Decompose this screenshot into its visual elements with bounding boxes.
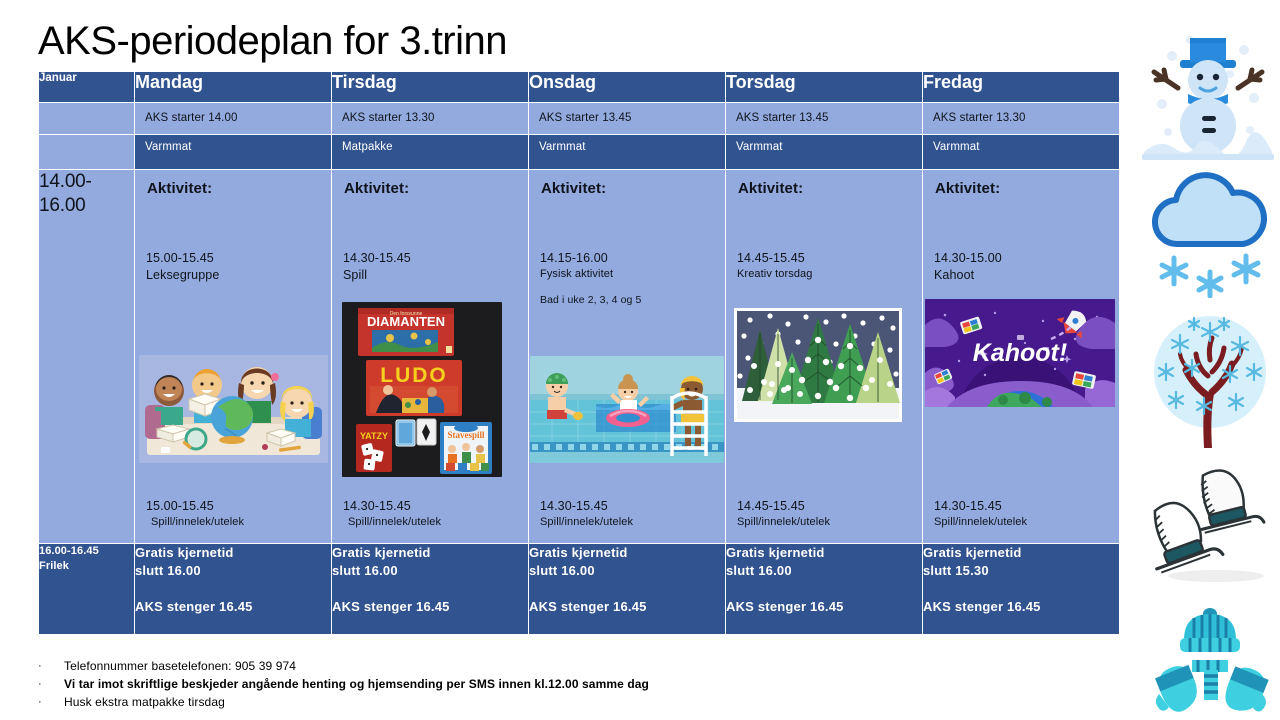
activity-time-label: 14.00-16.00	[39, 170, 135, 544]
food-row-time-cell	[39, 135, 135, 170]
closing-line1-onsdag: Gratis kjernetid	[529, 544, 725, 562]
activity-cell-torsdag: Aktivitet: 14.45-15.45 Kreativ torsdag	[726, 170, 923, 544]
closing-line2-mandag: slutt 16.00	[135, 562, 331, 580]
closing-cell-tirsdag: Gratis kjernetid slutt 16.00 AKS stenger…	[332, 544, 529, 635]
activity-name-mandag: Leksegruppe	[146, 267, 325, 284]
closing-line3-fredag: AKS stenger 16.45	[923, 599, 1119, 614]
start-text-onsdag: AKS starter 13.45	[529, 103, 725, 124]
bullet-marker: ·	[34, 658, 64, 674]
activity-foot-time-torsdag: 14.45-15.45	[737, 498, 916, 514]
food-cell-mandag: Varmmat	[135, 135, 332, 170]
ice-skates-icon	[1140, 458, 1280, 593]
activity-cell-mandag: Aktivitet: 15.00-15.45 Leksegruppe	[135, 170, 332, 544]
activity-foot-time-onsdag: 14.30-15.45	[540, 498, 719, 514]
activity-footer-tirsdag: 14.30-15.45 Spill/innelek/utelek	[343, 498, 522, 529]
closing-cell-torsdag: Gratis kjernetid slutt 16.00 AKS stenger…	[726, 544, 923, 635]
activity-row: 14.00-16.00 Aktivitet: 15.00-15.45 Lekse…	[39, 170, 1120, 544]
activity-cell-fredag: Aktivitet: 14.30-15.00 Kahoot	[923, 170, 1120, 544]
footer-bullet-2: · Vi tar imot skriftlige beskjeder angåe…	[34, 676, 934, 693]
food-row: Varmmat Matpakke Varmmat Varmmat Varmmat	[39, 135, 1120, 170]
snow-cloud-icon	[1142, 166, 1278, 303]
closing-line2-torsdag: slutt 16.00	[726, 562, 922, 580]
winter-tree-icon	[1146, 310, 1274, 455]
activity-cell-tirsdag: Aktivitet: 14.30-15.45 Spill Den forsvun…	[332, 170, 529, 544]
closing-time-label: 16.00-16.45 Frilek	[39, 544, 135, 635]
closing-line1-torsdag: Gratis kjernetid	[726, 544, 922, 562]
food-cell-fredag: Varmmat	[923, 135, 1120, 170]
closing-line1-mandag: Gratis kjernetid	[135, 544, 331, 562]
start-text-tirsdag: AKS starter 13.30	[332, 103, 528, 124]
closing-line3-mandag: AKS stenger 16.45	[135, 599, 331, 614]
start-cell-fredag: AKS starter 13.30	[923, 103, 1120, 135]
table-header-row: Januar Mandag Tirsdag Onsdag Torsdag Fre…	[39, 72, 1120, 103]
food-cell-onsdag: Varmmat	[529, 135, 726, 170]
snowman-icon	[1138, 22, 1278, 167]
food-text-mandag: Varmmat	[135, 135, 331, 153]
closing-line2-tirsdag: slutt 16.00	[332, 562, 528, 580]
closing-line1-tirsdag: Gratis kjernetid	[332, 544, 528, 562]
winter-icons-sidebar	[1130, 14, 1280, 714]
closing-row: 16.00-16.45 Frilek Gratis kjernetid slut…	[39, 544, 1120, 635]
start-cell-onsdag: AKS starter 13.45	[529, 103, 726, 135]
food-text-fredag: Varmmat	[923, 135, 1119, 153]
activity-time-tirsdag: 14.30-15.45	[343, 251, 522, 267]
header-day-onsdag: Onsdag	[529, 72, 726, 103]
svg-text:DIAMANTEN: DIAMANTEN	[367, 314, 445, 329]
weekly-plan-table: Januar Mandag Tirsdag Onsdag Torsdag Fre…	[38, 71, 1120, 635]
activity-foot-name-tirsdag: Spill/innelek/utelek	[343, 515, 522, 529]
activity-image-mandag	[139, 355, 331, 463]
activity-foot-name-torsdag: Spill/innelek/utelek	[737, 515, 916, 529]
closing-cell-onsdag: Gratis kjernetid slutt 16.00 AKS stenger…	[529, 544, 726, 635]
activity-name-fredag: Kahoot	[934, 267, 1113, 284]
closing-line3-onsdag: AKS stenger 16.45	[529, 599, 725, 614]
slide-root: AKS-periodeplan for 3.trinn Januar Manda…	[0, 0, 1280, 720]
bullet-marker: ·	[34, 676, 64, 692]
svg-text:Kahoot!: Kahoot!	[973, 339, 1067, 367]
winter-clothes-icon	[1146, 602, 1274, 720]
activity-footer-onsdag: 14.30-15.45 Spill/innelek/utelek	[540, 498, 719, 529]
closing-line1-fredag: Gratis kjernetid	[923, 544, 1119, 562]
food-text-onsdag: Varmmat	[529, 135, 725, 153]
activity-footer-mandag: 15.00-15.45 Spill/innelek/utelek	[146, 498, 325, 529]
activity-heading-mandag: Aktivitet:	[135, 170, 331, 197]
header-day-torsdag: Torsdag	[726, 72, 923, 103]
footer-bullet-2-text: Vi tar imot skriftlige beskjeder angåend…	[64, 676, 649, 692]
footer-bullet-3-text: Husk ekstra matpakke tirsdag	[64, 694, 225, 710]
activity-image-tirsdag: Den forsvunne DIAMANTEN LUDO	[342, 302, 528, 477]
activity-name-tirsdag: Spill	[343, 267, 522, 284]
swimming-pool-photo	[530, 356, 724, 463]
activity-time-torsdag: 14.45-15.45	[737, 251, 916, 267]
activity-name-torsdag: Kreativ torsdag	[737, 267, 916, 282]
kids-studying-photo	[139, 355, 328, 463]
activity-info-fredag: 14.30-15.00 Kahoot	[934, 251, 1113, 284]
svg-text:YATZY: YATZY	[360, 431, 388, 441]
activity-info-onsdag: 14.15-16.00 Fysisk aktivitet Bad i uke 2…	[540, 251, 719, 306]
start-cell-torsdag: AKS starter 13.45	[726, 103, 923, 135]
activity-heading-torsdag: Aktivitet:	[726, 170, 922, 197]
header-day-tirsdag: Tirsdag	[332, 72, 529, 103]
activity-foot-time-fredag: 14.30-15.45	[934, 498, 1113, 514]
start-times-row: AKS starter 14.00 AKS starter 13.30 AKS …	[39, 103, 1120, 135]
start-row-time-cell	[39, 103, 135, 135]
activity-foot-name-mandag: Spill/innelek/utelek	[146, 515, 325, 529]
activity-heading-tirsdag: Aktivitet:	[332, 170, 528, 197]
activity-image-fredag: Kahoot!	[925, 299, 1119, 407]
food-cell-tirsdag: Matpakke	[332, 135, 529, 170]
activity-heading-fredag: Aktivitet:	[923, 170, 1119, 197]
activity-footer-fredag: 14.30-15.45 Spill/innelek/utelek	[934, 498, 1113, 529]
activity-foot-time-mandag: 15.00-15.45	[146, 498, 325, 514]
activity-time-mandag: 15.00-15.45	[146, 251, 325, 267]
footer-bullet-1: · Telefonnummer basetelefonen: 905 39 97…	[34, 658, 934, 675]
start-cell-mandag: AKS starter 14.00	[135, 103, 332, 135]
activity-image-onsdag	[530, 356, 725, 463]
activity-foot-name-fredag: Spill/innelek/utelek	[934, 515, 1113, 529]
closing-line2-fredag: slutt 15.30	[923, 562, 1119, 580]
header-day-mandag: Mandag	[135, 72, 332, 103]
activity-info-tirsdag: 14.30-15.45 Spill	[343, 251, 522, 284]
closing-cell-mandag: Gratis kjernetid slutt 16.00 AKS stenger…	[135, 544, 332, 635]
start-text-mandag: AKS starter 14.00	[135, 103, 331, 124]
food-cell-torsdag: Varmmat	[726, 135, 923, 170]
closing-cell-fredag: Gratis kjernetid slutt 15.30 AKS stenger…	[923, 544, 1120, 635]
activity-cell-onsdag: Aktivitet: 14.15-16.00 Fysisk aktivitet …	[529, 170, 726, 544]
closing-time-line1: 16.00-16.45	[39, 544, 134, 559]
footer-bullet-3: · Husk ekstra matpakke tirsdag	[34, 694, 934, 711]
activity-note-onsdag: Bad i uke 2, 3, 4 og 5	[540, 294, 719, 306]
food-text-tirsdag: Matpakke	[332, 135, 528, 153]
closing-line3-tirsdag: AKS stenger 16.45	[332, 599, 528, 614]
winter-trees-craft-photo	[730, 304, 906, 426]
activity-time-fredag: 14.30-15.00	[934, 251, 1113, 267]
closing-line3-torsdag: AKS stenger 16.45	[726, 599, 922, 614]
footer-bullet-1-text: Telefonnummer basetelefonen: 905 39 974	[64, 658, 296, 674]
header-month-label: Januar	[39, 72, 135, 103]
activity-image-torsdag	[730, 304, 922, 426]
activity-info-torsdag: 14.45-15.45 Kreativ torsdag	[737, 251, 916, 281]
closing-time-line2: Frilek	[39, 559, 134, 574]
start-cell-tirsdag: AKS starter 13.30	[332, 103, 529, 135]
kahoot-banner-photo: Kahoot!	[925, 299, 1115, 407]
activity-foot-name-onsdag: Spill/innelek/utelek	[540, 515, 719, 529]
header-day-fredag: Fredag	[923, 72, 1120, 103]
activity-heading-onsdag: Aktivitet:	[529, 170, 725, 197]
closing-line2-onsdag: slutt 16.00	[529, 562, 725, 580]
start-text-fredag: AKS starter 13.30	[923, 103, 1119, 124]
svg-text:Stavespill: Stavespill	[447, 430, 485, 440]
bullet-marker: ·	[34, 694, 64, 710]
footer-notes: · Telefonnummer basetelefonen: 905 39 97…	[34, 658, 934, 712]
activity-time-onsdag: 14.15-16.00	[540, 251, 719, 267]
activity-name-onsdag: Fysisk aktivitet	[540, 267, 719, 282]
page-title: AKS-periodeplan for 3.trinn	[38, 18, 507, 64]
activity-footer-torsdag: 14.45-15.45 Spill/innelek/utelek	[737, 498, 916, 529]
board-games-photo: Den forsvunne DIAMANTEN LUDO	[342, 302, 502, 477]
start-text-torsdag: AKS starter 13.45	[726, 103, 922, 124]
food-text-torsdag: Varmmat	[726, 135, 922, 153]
activity-foot-time-tirsdag: 14.30-15.45	[343, 498, 522, 514]
activity-info-mandag: 15.00-15.45 Leksegruppe	[146, 251, 325, 284]
svg-text:LUDO: LUDO	[380, 364, 448, 387]
